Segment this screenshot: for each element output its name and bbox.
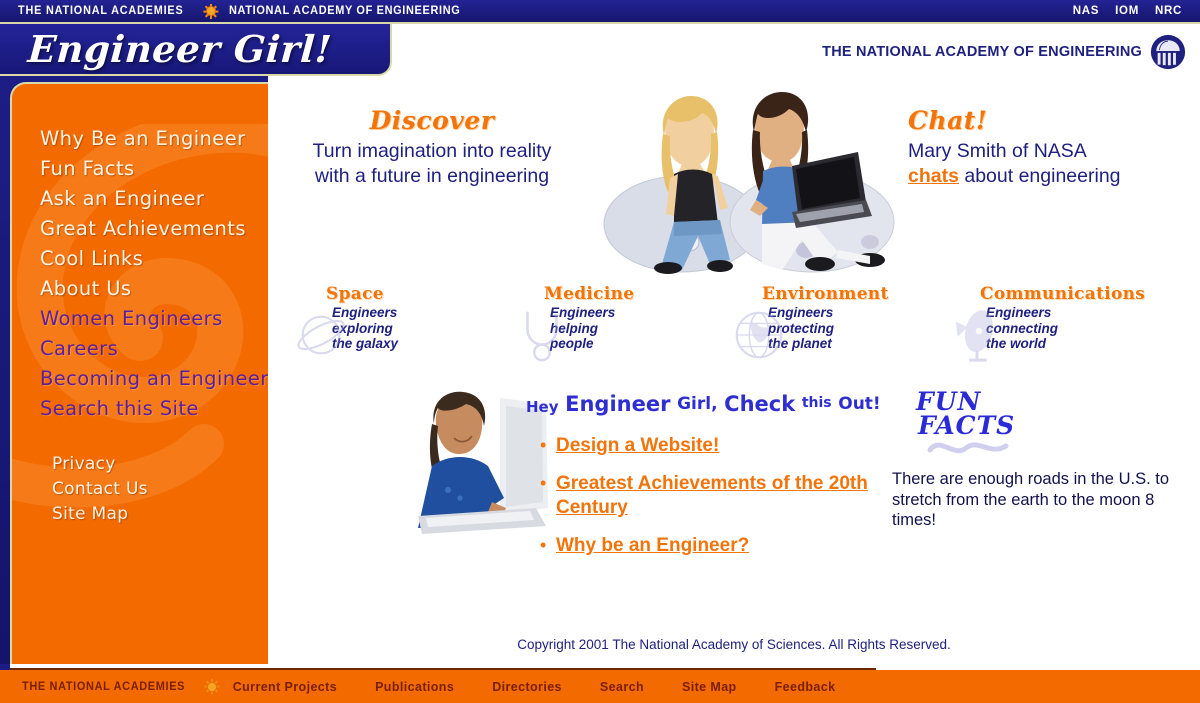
fun-facts-title-line-2: FACTS <box>916 414 1192 438</box>
sidebar-item-fun-facts[interactable]: Fun Facts <box>40 154 268 184</box>
stethoscope-icon <box>512 306 570 364</box>
two-girls-beanbag-laptop-photo <box>570 74 930 274</box>
link-iom[interactable]: IOM <box>1115 5 1139 17</box>
link-design-a-website[interactable]: Design a Website! <box>556 435 719 456</box>
footer-nav: THE NATIONAL ACADEMIES Current Projects … <box>22 680 873 694</box>
sidebar-item-women-engineers[interactable]: Women Engineers <box>40 304 268 334</box>
copyright-text: Copyright 2001 The National Academy of S… <box>268 637 1200 652</box>
footer-link-directories[interactable]: Directories <box>492 680 562 694</box>
category-lines-medicine: Engineers helping people <box>550 305 726 352</box>
footer-link-search[interactable]: Search <box>600 680 644 694</box>
main-content: Discover Turn imagination into reality w… <box>268 76 1200 664</box>
category-card-medicine[interactable]: Medicine Engineers helping people <box>508 284 726 376</box>
sidebar-item-cool-links[interactable]: Cool Links <box>40 244 268 274</box>
nae-wordmark-text: THE NATIONAL ACADEMY OF ENGINEERING <box>822 44 1142 60</box>
site-logo-banner[interactable]: Engineer Girl! <box>0 24 392 76</box>
national-academies-label: THE NATIONAL ACADEMIES <box>18 5 184 17</box>
discover-heading: Discover <box>282 106 582 135</box>
chats-link[interactable]: chats <box>908 165 959 187</box>
sidebar-item-site-map[interactable]: Site Map <box>52 502 268 527</box>
category-lines-environment: Engineers protecting the planet <box>768 305 944 352</box>
discover-block: Discover Turn imagination into reality w… <box>282 106 582 189</box>
check-this-out-heading: Hey Engineer Girl, Check this Out! <box>526 392 886 416</box>
heading-word: Hey <box>526 398 559 416</box>
check-this-out-block: Hey Engineer Girl, Check this Out! Desig… <box>526 392 886 572</box>
footer-link-feedback[interactable]: Feedback <box>775 680 836 694</box>
category-title-communications: Communications <box>980 284 1162 304</box>
sidebar-item-careers[interactable]: Careers <box>40 334 268 364</box>
sidebar-item-search-this-site[interactable]: Search this Site <box>40 394 268 424</box>
sidebar-item-ask-an-engineer[interactable]: Ask an Engineer <box>40 184 268 214</box>
sidebar-item-why-be-an-engineer[interactable]: Why Be an Engineer <box>40 124 268 154</box>
category-title-space: Space <box>326 284 508 304</box>
heading-word: Girl, <box>677 394 717 414</box>
link-nas[interactable]: NAS <box>1073 5 1099 17</box>
fun-facts-body: There are enough roads in the U.S. to st… <box>892 469 1192 531</box>
check-this-out-section: Hey Engineer Girl, Check this Out! Desig… <box>268 390 1200 640</box>
heading-word: Check <box>724 392 795 416</box>
chat-body: Mary Smith of NASA chats about engineeri… <box>908 139 1200 189</box>
heading-word: this <box>802 395 832 411</box>
fun-facts-block: FUN FACTS There are enough roads in the … <box>892 390 1192 531</box>
list-item: Why be an Engineer? <box>556 534 886 558</box>
globe-icon <box>730 306 788 364</box>
sidebar-item-contact-us[interactable]: Contact Us <box>52 477 268 502</box>
category-lines-space: Engineers exploring the galaxy <box>332 305 508 352</box>
fun-facts-title: FUN FACTS <box>892 390 1192 438</box>
chat-line-2-rest: about engineering <box>959 165 1121 187</box>
sidebar-item-privacy[interactable]: Privacy <box>52 452 268 477</box>
category-card-space[interactable]: Space Engineers exploring the galaxy <box>290 284 508 376</box>
sidebar-utility-menu: Privacy Contact Us Site Map <box>12 424 268 527</box>
chat-heading: Chat! <box>908 106 1200 135</box>
sidebar-item-becoming-an-engineer[interactable]: Becoming an Engineer <box>40 364 268 394</box>
top-academies-bar: THE NATIONAL ACADEMIES NATIONAL ACADEMY … <box>0 0 1200 22</box>
national-academy-engineering-label: NATIONAL ACADEMY OF ENGINEERING <box>229 5 460 17</box>
sidebar-main-menu: Why Be an Engineer Fun Facts Ask an Engi… <box>12 84 268 424</box>
sun-icon <box>204 5 217 18</box>
sidebar-item-about-us[interactable]: About Us <box>40 274 268 304</box>
category-strip: Space Engineers exploring the galaxy Med… <box>268 284 1200 376</box>
check-this-out-links: Design a Website! Greatest Achievements … <box>526 434 886 558</box>
category-lines-communications: Engineers connecting the world <box>986 305 1162 352</box>
heading-word: Out! <box>838 394 880 414</box>
footer-link-site-map[interactable]: Site Map <box>682 680 737 694</box>
list-item: Greatest Achievements of the 20th Centur… <box>556 472 886 520</box>
site-logo-text: Engineer Girl! <box>26 27 333 71</box>
swirl-flourish-icon <box>926 440 1012 458</box>
category-card-environment[interactable]: Environment Engineers protecting the pla… <box>726 284 944 376</box>
satellite-dish-icon <box>948 306 1006 364</box>
planet-ring-icon <box>294 306 352 364</box>
link-greatest-achievements[interactable]: Greatest Achievements of the 20th Centur… <box>556 473 868 518</box>
category-title-environment: Environment <box>762 284 944 304</box>
hero-section: Discover Turn imagination into reality w… <box>268 76 1200 276</box>
academy-links-group: NAS IOM NRC <box>1073 5 1182 17</box>
heading-word: Engineer <box>565 392 670 416</box>
discover-line-1: Turn imagination into reality <box>313 140 552 162</box>
discover-line-2: with a future in engineering <box>315 165 549 187</box>
chat-block: Chat! Mary Smith of NASA chats about eng… <box>908 106 1200 189</box>
footer-link-publications[interactable]: Publications <box>375 680 454 694</box>
chat-line-1: Mary Smith of NASA <box>908 140 1087 162</box>
nae-dome-logo-icon <box>1150 34 1186 70</box>
nae-wordmark: THE NATIONAL ACADEMY OF ENGINEERING <box>822 34 1186 70</box>
category-title-medicine: Medicine <box>544 284 726 304</box>
discover-body: Turn imagination into reality with a fut… <box>282 139 582 189</box>
sidebar-item-great-achievements[interactable]: Great Achievements <box>40 214 268 244</box>
link-nrc[interactable]: NRC <box>1155 5 1182 17</box>
footer-link-current-projects[interactable]: Current Projects <box>233 680 337 694</box>
sun-icon <box>206 680 219 693</box>
category-card-communications[interactable]: Communications Engineers connecting the … <box>944 284 1162 376</box>
list-item: Design a Website! <box>556 434 886 458</box>
sidebar-navigation: Why Be an Engineer Fun Facts Ask an Engi… <box>10 82 268 664</box>
link-why-be-an-engineer[interactable]: Why be an Engineer? <box>556 535 749 556</box>
footer-bar: THE NATIONAL ACADEMIES Current Projects … <box>0 670 1200 703</box>
footer-brand-label: THE NATIONAL ACADEMIES <box>22 681 185 693</box>
